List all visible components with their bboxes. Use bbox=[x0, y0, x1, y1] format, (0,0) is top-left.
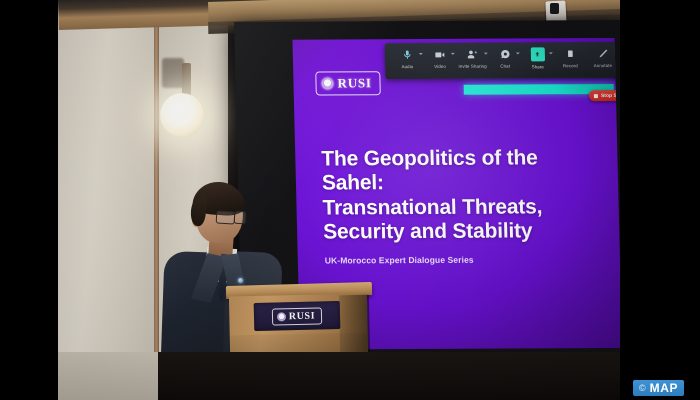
toolbar-label-chat: Chat bbox=[500, 63, 510, 68]
share-screen-icon bbox=[530, 47, 544, 61]
stop-square-icon bbox=[594, 94, 598, 98]
rusi-roundel-icon bbox=[321, 77, 333, 89]
chevron-down-icon[interactable] bbox=[549, 52, 553, 54]
wall-sconce-plate bbox=[162, 58, 184, 88]
toolbar-label-video: Video bbox=[434, 63, 446, 68]
lapel-pin-icon bbox=[238, 278, 243, 283]
toolbar-item-video[interactable]: Video bbox=[423, 47, 456, 78]
watermark-agency: MAP bbox=[650, 382, 678, 394]
participants-icon bbox=[466, 48, 479, 61]
slide-logo-wordmark: RUSI bbox=[337, 75, 372, 91]
toolbar-item-record[interactable]: Record bbox=[554, 46, 587, 77]
chevron-down-icon[interactable] bbox=[484, 53, 488, 55]
watermark: © MAP bbox=[633, 380, 684, 396]
letterbox-right bbox=[620, 0, 700, 400]
toolbar-item-audio[interactable]: Audio bbox=[391, 47, 424, 78]
toolbar-item-annotate[interactable]: Annotate bbox=[586, 46, 619, 77]
toolbar-item-share[interactable]: Share bbox=[521, 46, 554, 77]
camera-icon bbox=[433, 48, 446, 61]
chevron-down-icon[interactable] bbox=[451, 53, 455, 55]
toolbar-label-invite-sharing: Invite Sharing bbox=[458, 63, 486, 68]
toolbar-item-invite-sharing[interactable]: Invite Sharing bbox=[456, 47, 489, 78]
wall-panel-left bbox=[58, 0, 156, 400]
ceiling-camera-lens-icon bbox=[550, 3, 559, 14]
slide-subtitle: UK-Morocco Expert Dialogue Series bbox=[325, 254, 605, 265]
chevron-down-icon[interactable] bbox=[516, 52, 520, 54]
eyeglasses-lens-right bbox=[234, 211, 247, 225]
rusi-roundel-icon bbox=[277, 312, 286, 321]
wall-sconce-bracket bbox=[182, 63, 191, 97]
meeting-toolbar[interactable]: Audio Video Invite Sha bbox=[385, 42, 620, 79]
annotate-pen-icon bbox=[596, 47, 609, 60]
lectern-logo-wordmark: RUSI bbox=[289, 310, 316, 322]
floor-left-light bbox=[58, 352, 158, 400]
toolbar-label-share: Share bbox=[532, 64, 544, 69]
lectern-plaque: RUSI bbox=[254, 301, 341, 331]
toolbar-item-chat[interactable]: Chat bbox=[488, 46, 521, 77]
letterbox-left bbox=[0, 0, 58, 400]
microphone-icon bbox=[400, 48, 413, 61]
screenshot-canvas: RUSI The Geopolitics of the Sahel: Trans… bbox=[0, 0, 700, 400]
chevron-down-icon[interactable] bbox=[418, 53, 422, 55]
photograph: RUSI The Geopolitics of the Sahel: Trans… bbox=[58, 0, 620, 400]
lectern-logo: RUSI bbox=[272, 307, 323, 325]
slide-logo: RUSI bbox=[315, 71, 381, 95]
stop-share-button[interactable]: Stop Share bbox=[589, 90, 620, 101]
slide-title: The Geopolitics of the Sahel: Transnatio… bbox=[321, 146, 599, 245]
chat-icon bbox=[498, 48, 511, 61]
eyeglasses-lens-left bbox=[216, 211, 236, 225]
wall-sconce-globe-light bbox=[160, 93, 204, 137]
copyright-icon: © bbox=[639, 384, 646, 393]
record-icon bbox=[563, 47, 576, 60]
toolbar-label-audio: Audio bbox=[401, 64, 413, 69]
toolbar-label-annotate: Annotate bbox=[594, 63, 613, 68]
toolbar-label-record: Record bbox=[563, 63, 578, 68]
stop-share-label: Stop Share bbox=[601, 92, 620, 98]
